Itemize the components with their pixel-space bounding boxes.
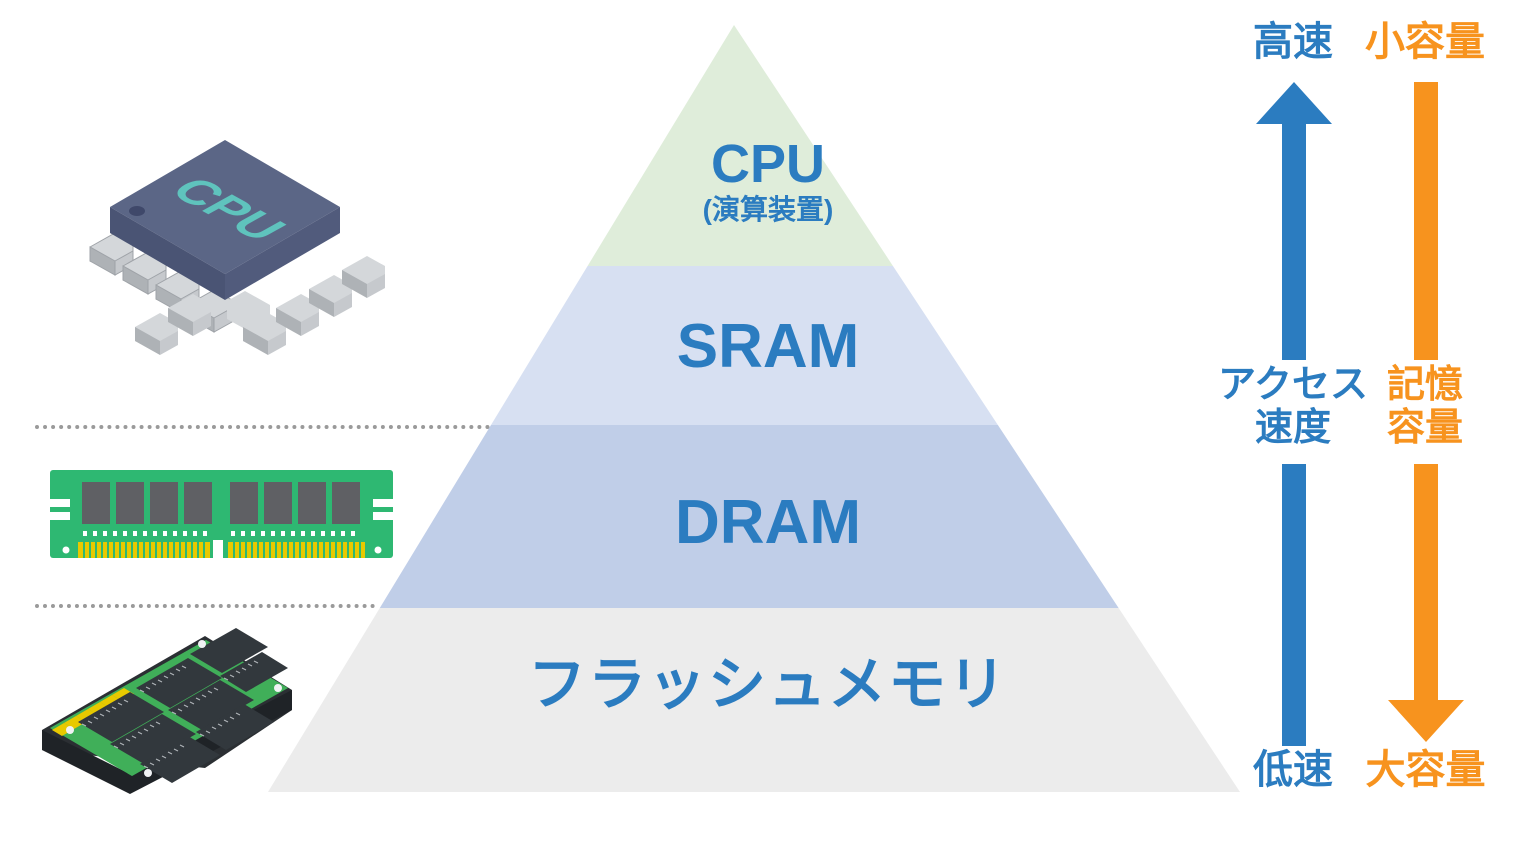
diagram-canvas: CPU (0, 0, 1536, 864)
dram-gold-contacts-right (228, 542, 365, 558)
storage-capacity-arrow (1388, 82, 1464, 742)
pyramid-tier-flash (200, 608, 1340, 808)
access-speed-arrow (1256, 82, 1332, 746)
memory-hierarchy-pyramid: CPU (0, 0, 1536, 864)
pyramid-tier-cpu (200, 0, 1340, 266)
storage-capacity-arrow-lower (1388, 464, 1464, 742)
dram-hole-right (375, 547, 382, 554)
access-speed-arrow-lower (1282, 464, 1306, 746)
connector-dotted-line-dram (35, 425, 490, 429)
pyramid-tiers (200, 0, 1340, 808)
cpu-chip-illustration: CPU (90, 140, 385, 355)
flash-memory-illustration (42, 628, 292, 794)
dram-notch-right-2 (373, 512, 395, 520)
dram-notch-left-1 (48, 499, 70, 507)
flash-hole-left (66, 726, 74, 734)
access-speed-arrow-upper (1256, 82, 1332, 360)
storage-capacity-arrow-upper (1414, 82, 1438, 360)
dram-module-illustration (48, 470, 395, 558)
connector-dotted-line-flash (35, 604, 375, 608)
dram-hole-left (63, 547, 70, 554)
cpu-chip-notch-dot (129, 206, 145, 216)
dram-key-notch (213, 540, 223, 558)
flash-hole-right (274, 684, 282, 692)
dram-notch-right-1 (373, 499, 395, 507)
flash-hole-top (198, 640, 206, 648)
dram-notch-left-2 (48, 512, 70, 520)
flash-hole-bottom (144, 769, 152, 777)
